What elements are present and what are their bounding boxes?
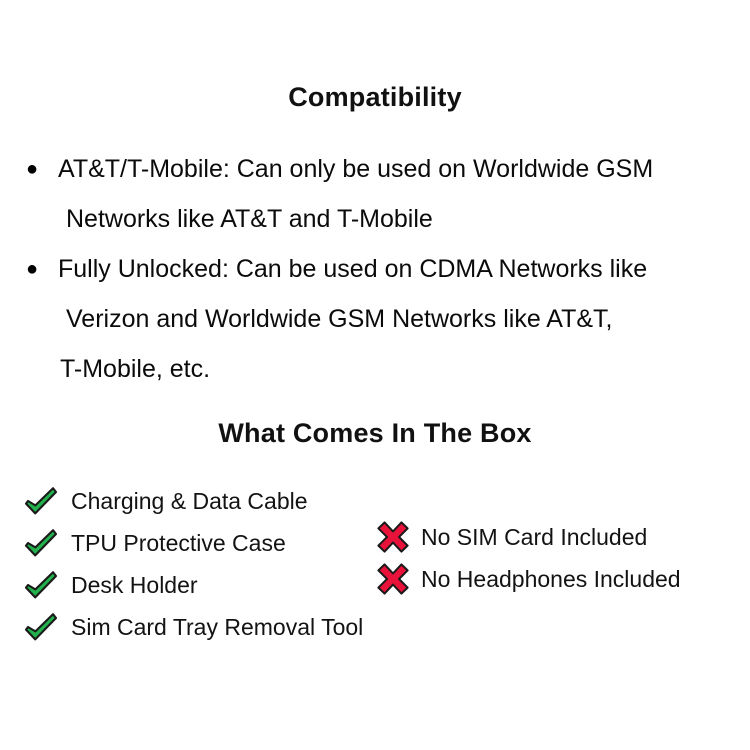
not-included-items-column: No SIM Card Included No Headphones Inclu… [376, 516, 750, 600]
bullet-icon: ● [26, 244, 38, 294]
list-item: No Headphones Included [376, 558, 750, 600]
box-contents-block: Charging & Data Cable TPU Protective Cas… [0, 480, 750, 660]
green-check-icon [24, 570, 58, 600]
product-info-graphic: Compatibility ● AT&T/T-Mobile: Can only … [0, 0, 750, 750]
included-item-label: Desk Holder [71, 574, 198, 597]
not-included-item-label: No Headphones Included [421, 568, 681, 591]
compatibility-text-line: T-Mobile, etc. [0, 344, 750, 394]
red-cross-icon [376, 520, 410, 554]
red-cross-icon [376, 562, 410, 596]
list-item: Charging & Data Cable [24, 480, 384, 522]
compatibility-list: ● AT&T/T-Mobile: Can only be used on Wor… [0, 144, 750, 394]
green-check-icon [24, 528, 58, 558]
green-check-icon [24, 612, 58, 642]
list-item: TPU Protective Case [24, 522, 384, 564]
included-item-label: Sim Card Tray Removal Tool [71, 616, 363, 639]
compatibility-text-line: Networks like AT&T and T-Mobile [0, 194, 750, 244]
compatibility-text-line: Fully Unlocked: Can be used on CDMA Netw… [0, 244, 750, 294]
green-check-icon [24, 486, 58, 516]
list-item: Desk Holder [24, 564, 384, 606]
list-item: No SIM Card Included [376, 516, 750, 558]
compatibility-text-line: AT&T/T-Mobile: Can only be used on World… [0, 144, 750, 194]
list-item: ● Fully Unlocked: Can be used on CDMA Ne… [0, 244, 750, 394]
not-included-item-label: No SIM Card Included [421, 526, 647, 549]
compatibility-heading: Compatibility [0, 82, 750, 113]
list-item: Sim Card Tray Removal Tool [24, 606, 384, 648]
list-item: ● AT&T/T-Mobile: Can only be used on Wor… [0, 144, 750, 244]
included-item-label: TPU Protective Case [71, 532, 286, 555]
bullet-icon: ● [26, 144, 38, 194]
included-items-column: Charging & Data Cable TPU Protective Cas… [24, 480, 384, 648]
included-item-label: Charging & Data Cable [71, 490, 308, 513]
box-contents-heading: What Comes In The Box [0, 418, 750, 449]
compatibility-text-line: Verizon and Worldwide GSM Networks like … [0, 294, 750, 344]
